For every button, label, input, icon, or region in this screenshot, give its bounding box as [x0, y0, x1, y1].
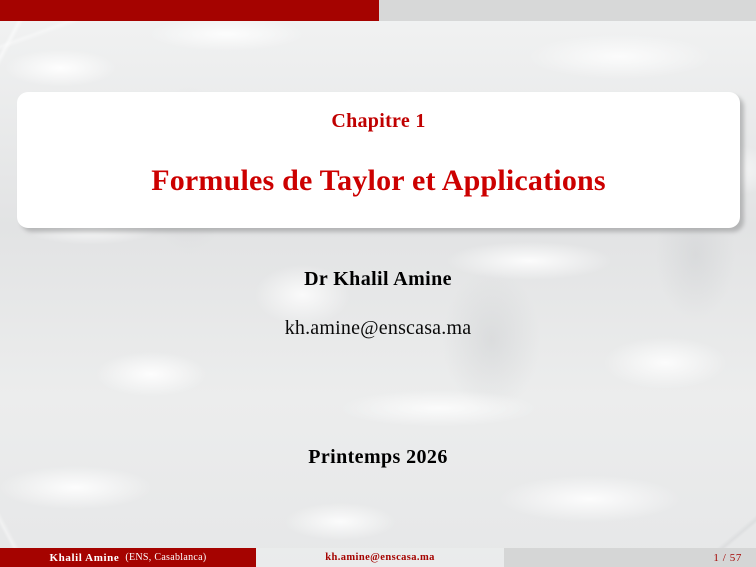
footer-page-indicator: 1 / 57 [504, 548, 756, 567]
author-email: kh.amine@enscasa.ma [0, 317, 756, 340]
footer-email: kh.amine@enscasa.ma [256, 548, 504, 567]
author-block: Dr Khalil Amine kh.amine@enscasa.ma [0, 268, 756, 340]
header-bar-muted-block [379, 0, 756, 21]
footer-author-affiliation: (ENS, Casablanca) [125, 552, 206, 563]
footer-author-block: Khalil Amine (ENS, Casablanca) [0, 548, 256, 567]
header-bar [0, 0, 756, 21]
slide-footer: Khalil Amine (ENS, Casablanca) kh.amine@… [0, 548, 756, 567]
chapter-label: Chapitre 1 [331, 110, 425, 133]
header-bar-accent-block [0, 0, 379, 21]
presentation-date: Printemps 2026 [0, 446, 756, 469]
author-name: Dr Khalil Amine [0, 268, 756, 291]
title-card: Chapitre 1 Formules de Taylor et Applica… [17, 92, 740, 228]
footer-author-name: Khalil Amine [49, 552, 119, 564]
presentation-slide: Chapitre 1 Formules de Taylor et Applica… [0, 0, 756, 567]
page-title: Formules de Taylor et Applications [151, 164, 606, 198]
